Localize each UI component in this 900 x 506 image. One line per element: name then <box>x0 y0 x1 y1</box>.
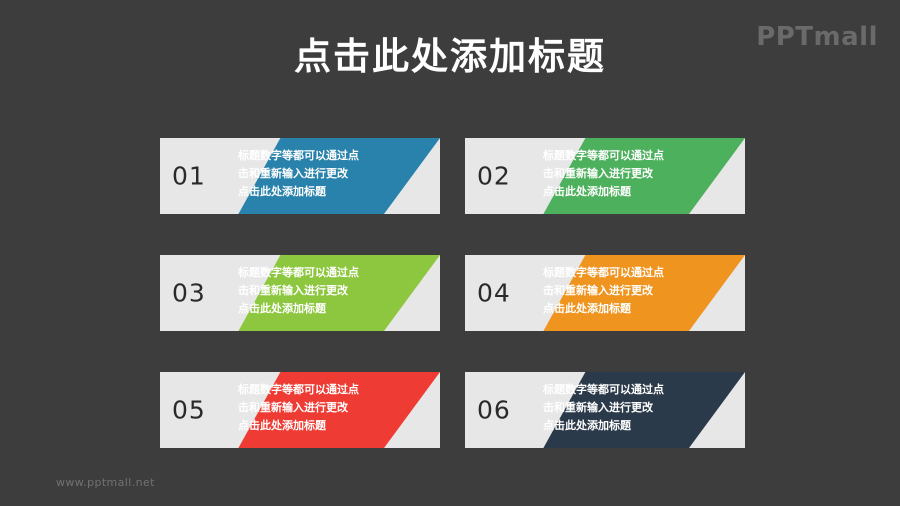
card-item[interactable]: 02 标题数字等都可以通过点 击和重新输入进行更改 点击此处添加标题 <box>465 138 745 214</box>
card-number: 06 <box>477 398 511 423</box>
footer-watermark-url: www.pptmall.net <box>56 476 155 489</box>
card-number: 05 <box>172 398 206 423</box>
card-body-text[interactable]: 标题数字等都可以通过点 击和重新输入进行更改 点击此处添加标题 <box>238 381 418 434</box>
card-body-text[interactable]: 标题数字等都可以通过点 击和重新输入进行更改 点击此处添加标题 <box>543 147 723 200</box>
slide-canvas: PPTmall 点击此处添加标题 01 标题数字等都可以通过点 击和重新输入进行… <box>0 0 900 506</box>
cards-grid: 01 标题数字等都可以通过点 击和重新输入进行更改 点击此处添加标题 02 标题… <box>160 138 745 448</box>
page-title: 点击此处添加标题 <box>0 36 900 79</box>
card-item[interactable]: 01 标题数字等都可以通过点 击和重新输入进行更改 点击此处添加标题 <box>160 138 440 214</box>
card-number: 01 <box>172 164 206 189</box>
card-body-text[interactable]: 标题数字等都可以通过点 击和重新输入进行更改 点击此处添加标题 <box>238 147 418 200</box>
card-item[interactable]: 06 标题数字等都可以通过点 击和重新输入进行更改 点击此处添加标题 <box>465 372 745 448</box>
card-body-text[interactable]: 标题数字等都可以通过点 击和重新输入进行更改 点击此处添加标题 <box>543 381 723 434</box>
card-body-text[interactable]: 标题数字等都可以通过点 击和重新输入进行更改 点击此处添加标题 <box>543 264 723 317</box>
card-item[interactable]: 05 标题数字等都可以通过点 击和重新输入进行更改 点击此处添加标题 <box>160 372 440 448</box>
card-number: 04 <box>477 281 511 306</box>
card-number: 02 <box>477 164 511 189</box>
card-body-text[interactable]: 标题数字等都可以通过点 击和重新输入进行更改 点击此处添加标题 <box>238 264 418 317</box>
card-number: 03 <box>172 281 206 306</box>
card-item[interactable]: 03 标题数字等都可以通过点 击和重新输入进行更改 点击此处添加标题 <box>160 255 440 331</box>
card-item[interactable]: 04 标题数字等都可以通过点 击和重新输入进行更改 点击此处添加标题 <box>465 255 745 331</box>
